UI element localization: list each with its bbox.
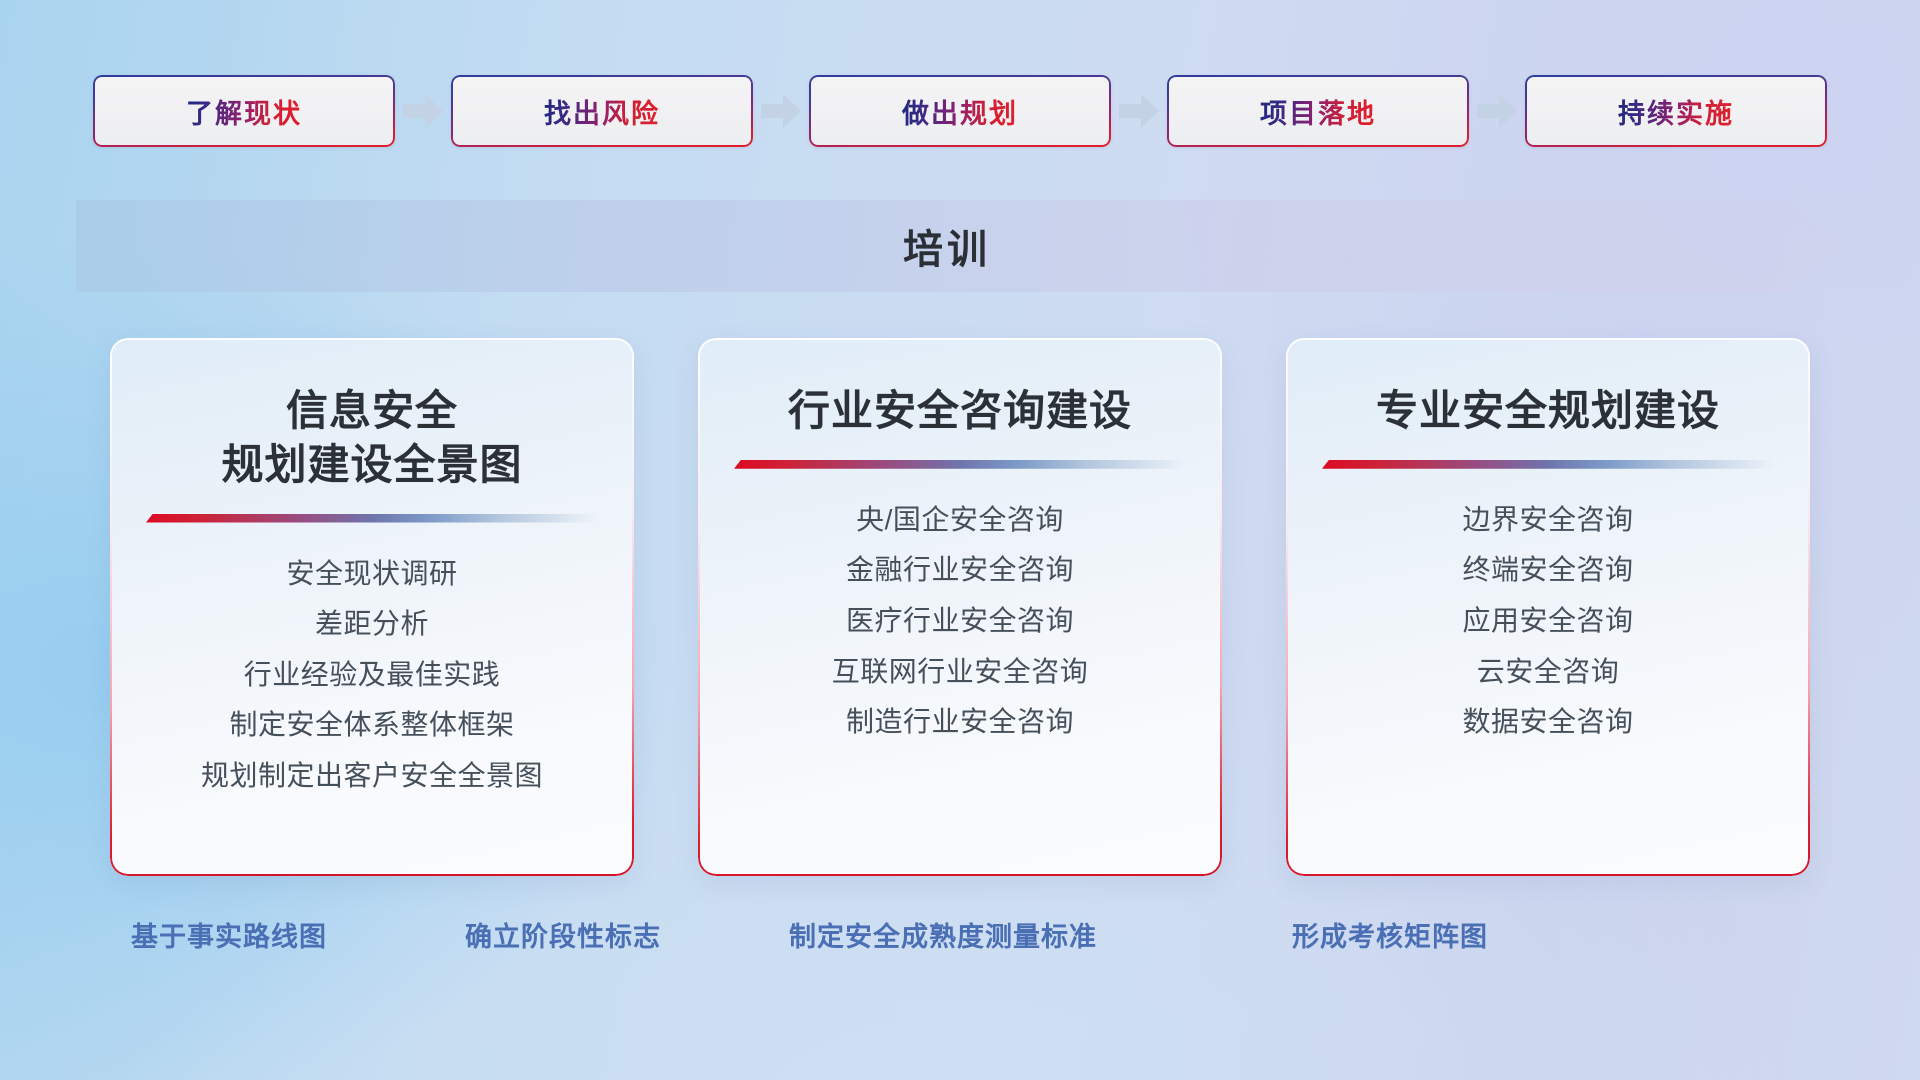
training-banner: 培训 [76, 200, 1848, 292]
process-step-label: 做出规划 [902, 92, 1018, 131]
list-item: 边界安全咨询 [1462, 503, 1633, 537]
list-item: 制造行业安全咨询 [846, 705, 1074, 739]
list-item: 金融行业安全咨询 [846, 553, 1074, 587]
caption-row: 基于事实路线图确立阶段性标志制定安全成熟度测量标准形成考核矩阵图 [0, 915, 1920, 965]
process-step-5[interactable]: 持续实施 [1525, 75, 1827, 147]
service-card-list: 边界安全咨询终端安全咨询应用安全咨询云安全咨询数据安全咨询 [1462, 503, 1633, 739]
list-item: 行业经验及最佳实践 [244, 658, 501, 692]
service-card[interactable]: 专业安全规划建设边界安全咨询终端安全咨询应用安全咨询云安全咨询数据安全咨询 [1286, 338, 1810, 876]
card-divider [734, 460, 1186, 469]
outcome-caption: 基于事实路线图 [131, 915, 327, 954]
list-item: 规划制定出客户安全全景图 [201, 759, 543, 793]
service-card-title: 专业安全规划建设 [1376, 384, 1720, 438]
banner-title: 培训 [76, 200, 1848, 292]
service-card-list: 安全现状调研差距分析行业经验及最佳实践制定安全体系整体框架规划制定出客户安全全景… [201, 557, 543, 793]
process-step-label: 项目落地 [1260, 92, 1376, 131]
outcome-caption: 确立阶段性标志 [465, 915, 661, 954]
list-item: 安全现状调研 [286, 557, 457, 591]
service-card-title: 信息安全 规划建设全景图 [221, 384, 522, 492]
service-card[interactable]: 行业安全咨询建设央/国企安全咨询金融行业安全咨询医疗行业安全咨询互联网行业安全咨… [698, 338, 1222, 876]
list-item: 医疗行业安全咨询 [846, 604, 1074, 638]
process-step-row: 了解现状找出风险做出规划项目落地持续实施 [0, 72, 1920, 150]
service-card-title: 行业安全咨询建设 [788, 384, 1132, 438]
arrow-right-icon [1111, 75, 1167, 147]
process-step-4[interactable]: 项目落地 [1167, 75, 1469, 147]
list-item: 云安全咨询 [1477, 655, 1620, 689]
list-item: 差距分析 [315, 607, 429, 641]
service-card-row: 信息安全 规划建设全景图安全现状调研差距分析行业经验及最佳实践制定安全体系整体框… [0, 338, 1920, 878]
list-item: 制定安全体系整体框架 [229, 708, 514, 742]
list-item: 数据安全咨询 [1462, 705, 1633, 739]
list-item: 应用安全咨询 [1462, 604, 1633, 638]
outcome-caption: 制定安全成熟度测量标准 [789, 915, 1097, 954]
process-step-label: 找出风险 [544, 92, 660, 131]
process-step-label: 持续实施 [1618, 92, 1734, 131]
card-divider [1322, 460, 1774, 469]
list-item: 互联网行业安全咨询 [832, 655, 1089, 689]
process-step-2[interactable]: 找出风险 [451, 75, 753, 147]
process-step-1[interactable]: 了解现状 [93, 75, 395, 147]
list-item: 央/国企安全咨询 [856, 503, 1064, 537]
list-item: 终端安全咨询 [1462, 553, 1633, 587]
card-divider [146, 514, 598, 523]
process-step-label: 了解现状 [186, 92, 302, 131]
process-step-3[interactable]: 做出规划 [809, 75, 1111, 147]
arrow-right-icon [753, 75, 809, 147]
service-card[interactable]: 信息安全 规划建设全景图安全现状调研差距分析行业经验及最佳实践制定安全体系整体框… [110, 338, 634, 876]
outcome-caption: 形成考核矩阵图 [1292, 915, 1488, 954]
arrow-right-icon [395, 75, 451, 147]
service-card-list: 央/国企安全咨询金融行业安全咨询医疗行业安全咨询互联网行业安全咨询制造行业安全咨… [832, 503, 1089, 739]
arrow-right-icon [1469, 75, 1525, 147]
